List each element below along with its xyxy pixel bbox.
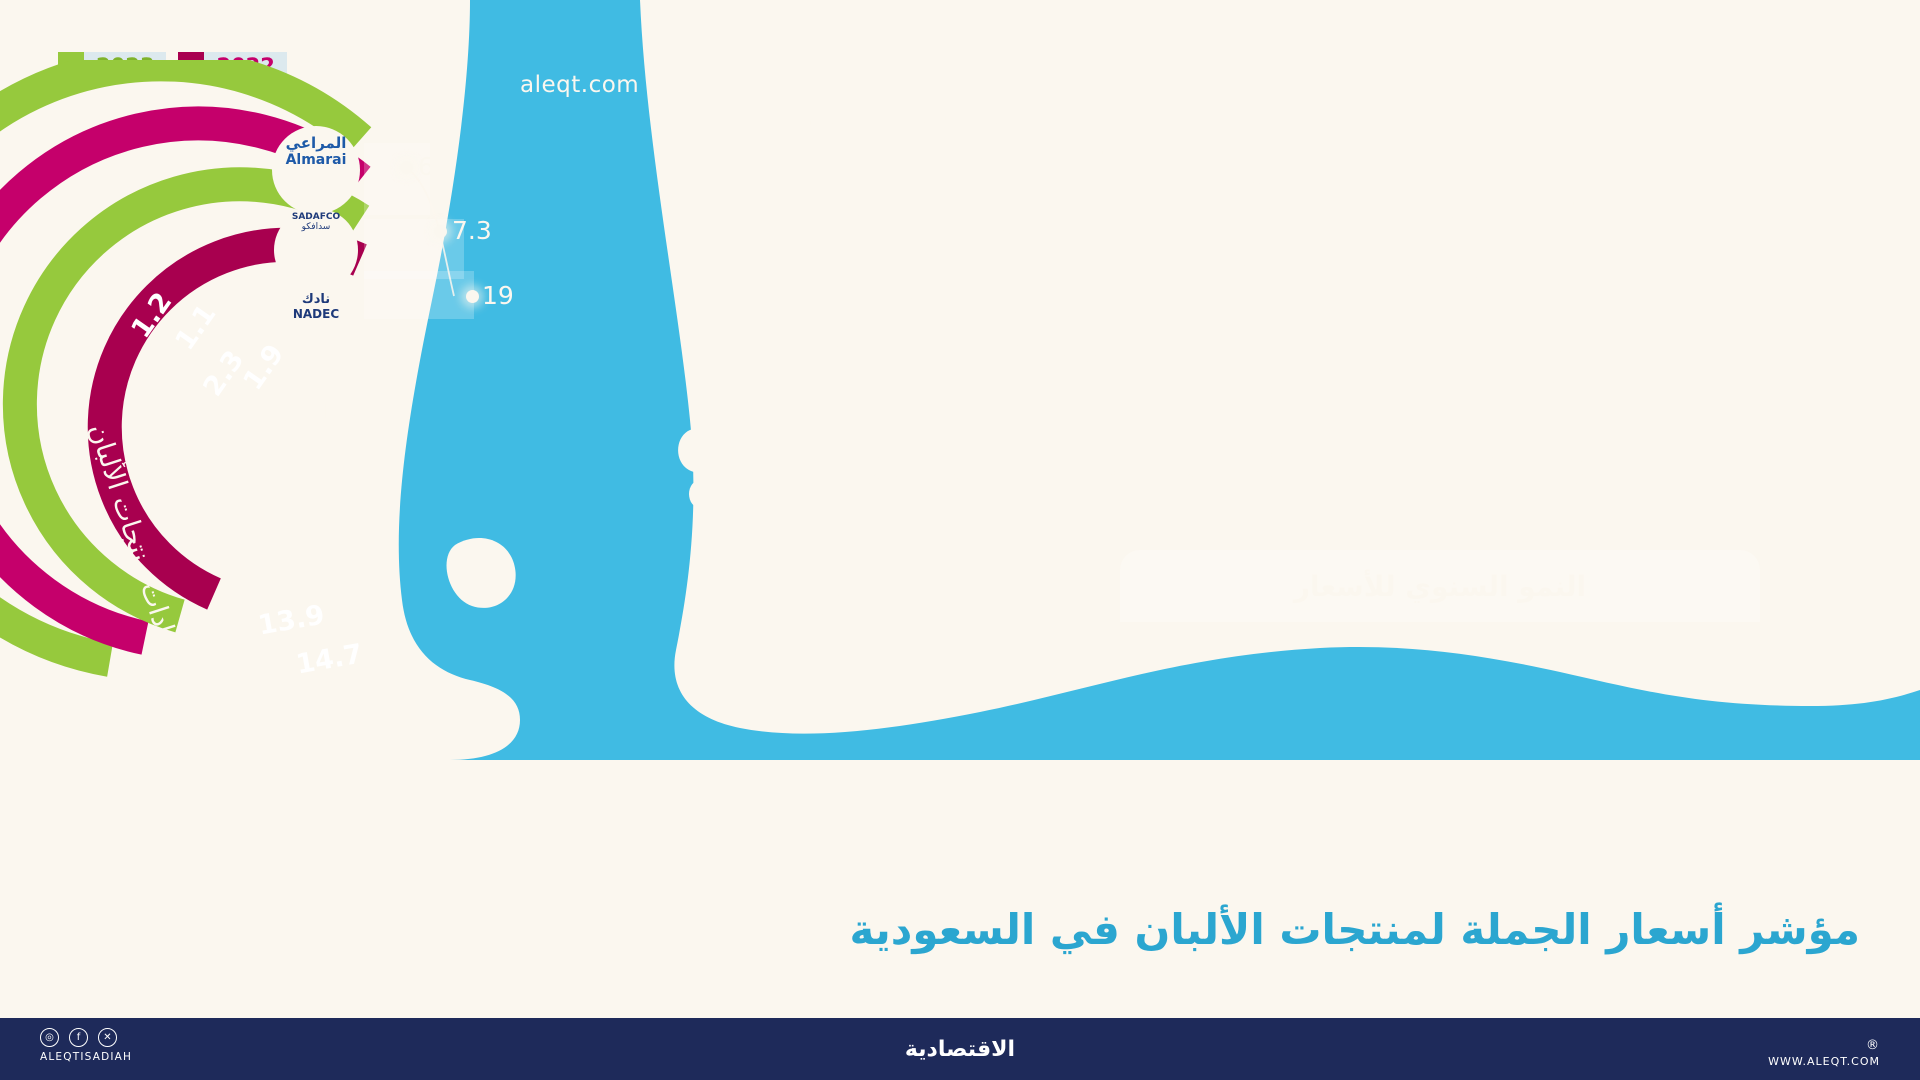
cheese-hole (1166, 321, 1176, 329)
cheese-hole (1559, 348, 1569, 356)
cheese-hole (1141, 337, 1173, 363)
cheese-hole (1402, 339, 1412, 347)
cheese-hole (1161, 237, 1175, 248)
cheese-value-label: 16.2 (1279, 163, 1349, 197)
cheese-hole (847, 207, 861, 218)
cheese-bar (1048, 181, 1124, 477)
cheese-value-label: 15.3 (1436, 178, 1506, 212)
annual-growth-box: النمو السنوي للأسعار (1120, 550, 1760, 622)
cheese-hole (1060, 312, 1070, 320)
cheese-hole (1451, 291, 1477, 312)
cheese-bar (1283, 203, 1359, 476)
cheese-hole (1004, 223, 1018, 234)
growth-title: % النمو (356, 82, 437, 111)
cheese-hole (1455, 353, 1487, 379)
infographic-root: 2023 2022 9 أشهر aleqt.com 1.2 1.1 2.3 1… (0, 0, 1920, 1080)
cheese-hole (1372, 287, 1398, 308)
growth-value-nadec: 19 (482, 281, 514, 310)
cheese-bar (1205, 208, 1281, 476)
cheese-hole (1245, 337, 1255, 345)
cheese-month-label: أكتوبر (1563, 442, 1587, 492)
growth-value-sadafco: 7.3 (452, 216, 492, 245)
cheese-hole (1534, 358, 1566, 384)
cheese-hole (1452, 332, 1462, 340)
cheese-hole (1529, 301, 1555, 322)
cheese-month-label: سبتمبر (1484, 432, 1508, 492)
cheese-hole (1063, 339, 1095, 365)
footer-bar: ◎ f ✕ ALEQTISADIAH الاقتصادية ® WWW.ALEQ… (0, 1018, 1920, 1080)
cheese-hole (1138, 309, 1148, 317)
registered-icon: ® (1768, 1038, 1880, 1053)
cheese-hole (1240, 264, 1254, 275)
cheese-hole (980, 250, 1006, 271)
cheese-hole (981, 300, 991, 308)
cheese-hole (1318, 260, 1332, 271)
x-icon[interactable]: ✕ (98, 1028, 117, 1047)
cheese-value-label: 15.7 (1358, 171, 1428, 205)
cheese-month-label: مايو (1170, 458, 1194, 492)
cheese-hole (1220, 349, 1252, 375)
growth-dot-sadafco (434, 225, 447, 238)
cheese-value-label: 14.5 (1515, 192, 1585, 226)
cheese-value-label: 17.8 (1122, 135, 1192, 169)
cheese-hole (824, 290, 834, 298)
cheese-hole (1083, 242, 1097, 253)
logo-nadec: نادك NADEC (278, 292, 354, 321)
cheese-hole (1554, 283, 1568, 294)
cheese-bar (969, 158, 1045, 476)
cheese-hole (1215, 284, 1241, 305)
cheese-month-label: يناير (856, 456, 880, 492)
cheese-hole (1531, 339, 1541, 347)
cheese-value-label: 15.9 (1201, 168, 1271, 202)
footer-handle: ALEQTISADIAH (40, 1051, 132, 1063)
cheese-hole (1374, 328, 1384, 336)
growth-dot-nadec (466, 290, 479, 303)
cheese-hole (852, 304, 862, 312)
annual-growth-label: النمو السنوي للأسعار (1294, 570, 1586, 603)
cheese-value-label: 18.8 (965, 118, 1035, 152)
cheese-bar (812, 138, 888, 476)
cheese-value-label: 19.5 (887, 107, 957, 141)
instagram-icon[interactable]: ◎ (40, 1028, 59, 1047)
cheese-month-label: أبريل (1092, 447, 1116, 492)
cheese-hole (984, 330, 1016, 356)
footer-brand: الاقتصادية (905, 1037, 1015, 1062)
cheese-hole (1294, 281, 1320, 302)
growth-value-almarai: 6 (418, 152, 434, 181)
cheese-hole (1137, 262, 1163, 283)
cheese-value-label: 17.5 (1044, 141, 1114, 175)
footer-url-group: ® WWW.ALEQT.COM (1768, 1038, 1880, 1068)
cheese-month-label: يونيو (1249, 452, 1273, 492)
cheese-bar (1126, 175, 1202, 476)
cheese-hole (901, 241, 927, 262)
cheese-hole (1475, 272, 1489, 283)
cheese-hole (906, 326, 938, 352)
cheese-month-label: يوليو (1327, 452, 1351, 492)
footer-url: WWW.ALEQT.COM (1768, 1055, 1880, 1068)
cheese-hole (1397, 267, 1411, 278)
logo-almarai: المراعي Almarai (278, 134, 354, 168)
cheese-hole (1058, 265, 1084, 286)
logo-sadafco: SADAFCO سدافكو (278, 212, 354, 232)
cheese-hole (1295, 324, 1305, 332)
cheese-hole (823, 235, 849, 256)
page-title: مؤشر أسعار الجملة لمنتجات الألبان في الس… (850, 905, 1860, 954)
cheese-hole (827, 322, 859, 348)
cheese-month-label: مارس (1013, 439, 1037, 492)
cheese-hole (931, 308, 941, 316)
unit-label: مليار ريال (258, 400, 360, 429)
cheese-value-label: 20.0 (808, 98, 878, 132)
cheese-hole (1480, 342, 1490, 350)
cheese-bar (891, 147, 967, 477)
cheese-hole (1009, 313, 1019, 321)
cheese-bar (1519, 232, 1595, 477)
cheese-hole (1377, 350, 1409, 376)
cheese-hole (1217, 326, 1227, 334)
cheese-hole (903, 294, 913, 302)
cheese-hole (1323, 335, 1333, 343)
footer-social-group: ◎ f ✕ ALEQTISADIAH (40, 1028, 132, 1063)
cheese-month-label: فبراير (935, 441, 959, 492)
cheese-hole (926, 214, 940, 225)
cheese-month-label: أغسطس (1406, 412, 1430, 492)
cheese-hole (1088, 324, 1098, 332)
growth-dot-almarai (400, 161, 413, 174)
cheese-hole (1298, 347, 1330, 373)
facebook-icon[interactable]: f (69, 1028, 88, 1047)
